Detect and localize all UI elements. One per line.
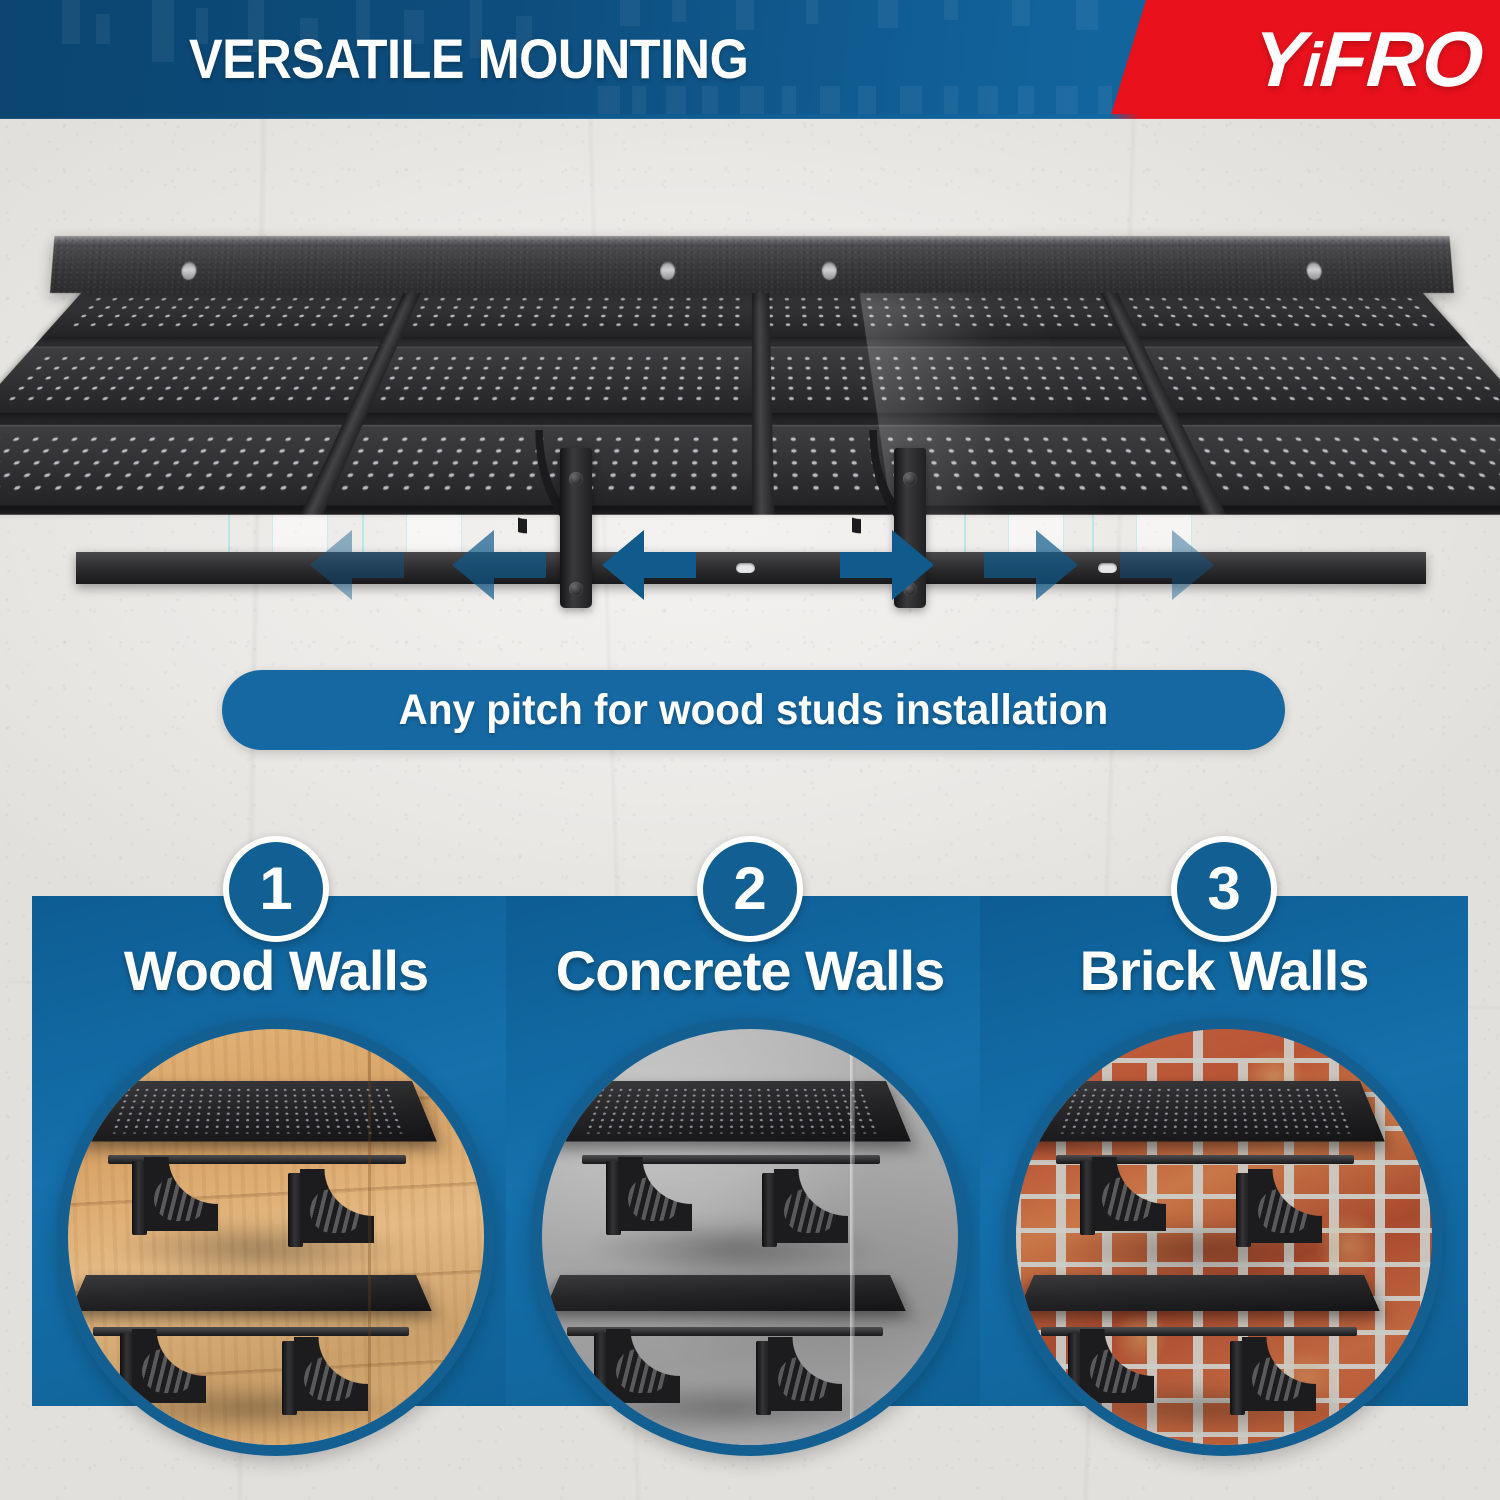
shelf-lower <box>86 1275 416 1405</box>
shelf-bracket-web <box>294 1337 368 1411</box>
card-step-badge: 3 <box>1171 836 1277 942</box>
bracket-screw-bottom <box>569 582 583 596</box>
rail-mounting-hole <box>660 262 675 281</box>
card-concrete-walls[interactable]: Concrete Walls 2 <box>506 820 994 1500</box>
fascia-slot <box>1098 563 1117 573</box>
shelf-bracket-web <box>774 1169 848 1243</box>
shelf-bracket-web <box>144 1157 218 1231</box>
card-title: Concrete Walls <box>506 938 994 1003</box>
bracket-screw-top <box>903 472 917 486</box>
arrow-left-near-icon <box>602 526 696 604</box>
shelf-deck-mini <box>544 1275 906 1311</box>
arrow-left-mid-icon <box>452 526 546 604</box>
brand-logo: YiFRO <box>1250 16 1485 109</box>
shelf-deck-mini <box>70 1275 432 1311</box>
shelf-lower <box>560 1275 890 1405</box>
shelf-bracket-web <box>606 1329 680 1403</box>
arrow-right-near-icon <box>840 526 934 604</box>
caption-banner: Any pitch for wood studs installation <box>222 670 1285 750</box>
top-mounting-rail <box>50 236 1454 293</box>
brand-logo-fro: FRO <box>1318 15 1486 103</box>
shelf-bracket-web <box>1242 1337 1316 1411</box>
shelf-bracket-web <box>768 1337 842 1411</box>
bracket-screw-top <box>569 472 583 486</box>
arrow-right-far-icon <box>1120 526 1214 604</box>
shelf-upper <box>576 1081 886 1231</box>
card-step-badge: 1 <box>223 836 329 942</box>
arrow-right-mid-icon <box>984 526 1078 604</box>
shelf-deck-mini <box>1025 1081 1385 1142</box>
concrete-wall-texture <box>542 1029 958 1445</box>
perforation-texture <box>0 354 1500 405</box>
arrow-left-far-icon <box>310 526 404 604</box>
shelf-bracket-web <box>132 1329 206 1403</box>
shelf-deck-mini <box>1018 1275 1380 1311</box>
perforation-texture <box>109 1087 405 1133</box>
brand-logo-y: Y <box>1250 15 1307 103</box>
mounting-bracket-left <box>560 448 592 608</box>
caption-text: Any pitch for wood studs installation <box>399 686 1109 735</box>
brick-wall-texture <box>1016 1029 1432 1445</box>
perforation-texture <box>583 1087 879 1133</box>
shelf-upper <box>102 1081 412 1231</box>
shelf-bracket-web <box>1248 1169 1322 1243</box>
shelf-deck <box>0 281 1500 515</box>
shelf-upper <box>1050 1081 1360 1231</box>
hero-product-scene <box>0 118 1500 678</box>
perforation-texture <box>1057 1087 1353 1133</box>
card-step-number: 3 <box>1207 859 1240 919</box>
shelf-bracket-web <box>300 1169 374 1243</box>
shelf-bracket-web <box>1080 1329 1154 1403</box>
perforation-texture <box>0 433 1500 495</box>
fascia-slot <box>736 563 755 573</box>
shelf-front-fascia <box>76 552 1426 584</box>
page-title: VERSATILE MOUNTING <box>189 29 748 89</box>
perforated-panel-row <box>0 347 1500 413</box>
card-step-number: 1 <box>259 859 292 919</box>
mounting-surface-cards: Wood Walls 1 <box>0 820 1500 1500</box>
shelf-bracket-web <box>618 1157 692 1231</box>
perforated-panel-row <box>0 425 1500 506</box>
card-brick-walls[interactable]: Brick Walls 3 <box>980 820 1468 1500</box>
card-wood-walls[interactable]: Wood Walls 1 <box>32 820 520 1500</box>
card-photo-concrete <box>531 1018 969 1456</box>
page-header: VERSATILE MOUNTING YiFRO <box>0 0 1500 118</box>
card-title: Brick Walls <box>980 938 1468 1003</box>
card-step-badge: 2 <box>697 836 803 942</box>
card-photo-wood <box>57 1018 495 1456</box>
shelf-bracket-web <box>1092 1157 1166 1231</box>
shelf-lower <box>1034 1275 1364 1405</box>
shelf-deck-mini <box>551 1081 911 1142</box>
rail-texture <box>50 236 1454 293</box>
shelf-deck-mini <box>77 1081 437 1142</box>
card-step-number: 2 <box>733 859 766 919</box>
rail-mounting-hole <box>822 262 837 281</box>
wood-wall-texture <box>68 1029 484 1445</box>
rail-mounting-hole <box>1306 262 1322 281</box>
card-photo-brick <box>1005 1018 1443 1456</box>
card-title: Wood Walls <box>32 938 520 1003</box>
product-infographic: VERSATILE MOUNTING YiFRO <box>0 0 1500 1500</box>
